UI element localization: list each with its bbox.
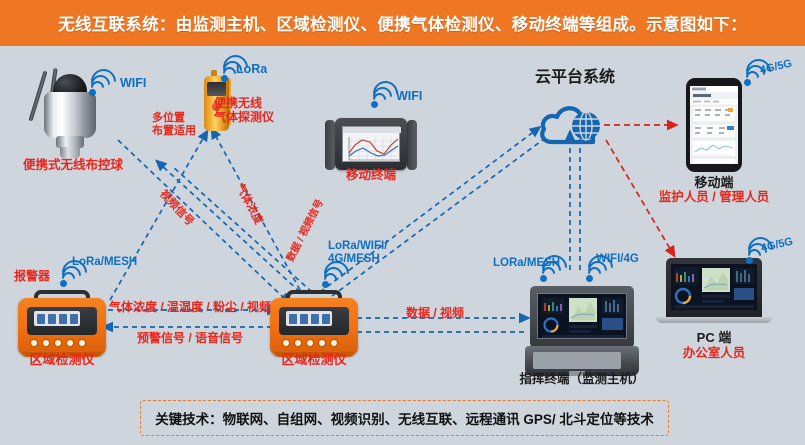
key-tech-text: 关键技术：物联网、自组网、视频识别、无线互联、远程通讯 GPS/ 北斗定位等技术	[155, 408, 654, 428]
link-label-warn-voice: 预警信号 / 语音信号	[137, 331, 243, 346]
wifi-icon	[89, 76, 115, 96]
tablet-grip-left	[325, 120, 335, 170]
display-segment	[289, 314, 297, 324]
cloud-platform-icon[interactable]	[538, 98, 612, 148]
command-terminal-signal-right: WIFI/4G	[596, 252, 639, 266]
mobile-client-sublabel: 监护人员 / 管理人员	[659, 190, 769, 205]
diagram-canvas: 无线互联系统：由监测主机、区域检测仪、便携气体检测仪、移动终端等组成。示意图如下…	[0, 0, 805, 445]
command-screen	[537, 293, 627, 339]
display-segment	[300, 314, 308, 324]
portable-gas-detector-label-line2: 气体探测仪	[214, 110, 274, 125]
link-label-gas-temp-dust-video: 气体浓度 / 温湿度 / 粉尘 / 视频	[109, 300, 271, 315]
key-tech-box: 关键技术：物联网、自组网、视频识别、无线互联、远程通讯 GPS/ 北斗定位等技术	[140, 400, 669, 436]
device-pc-client[interactable]	[656, 258, 772, 326]
area-detector-left-signal-label: LoRa/MESH	[72, 255, 137, 269]
link-label-data-video: 数据 / 视频	[406, 306, 464, 321]
header-bar: 无线互联系统：由监测主机、区域检测仪、便携气体检测仪、移动终端等组成。示意图如下…	[0, 0, 805, 46]
command-terminal-signal-left: LORa/MESH	[493, 256, 560, 270]
link-label-data-video-diagonal: 数据 / 视频信号	[285, 198, 327, 264]
laptop-lid	[666, 258, 762, 318]
mobile-client-label: 移动端	[694, 175, 733, 191]
device-area-detector-mid[interactable]	[270, 290, 358, 356]
ball-camera-signal-label: WIFI	[120, 76, 146, 91]
alarm-device-label: 报警器	[14, 269, 50, 284]
display-segment	[37, 314, 45, 324]
mobile-terminal-label: 移动终端	[346, 168, 396, 183]
portable-gas-detector-note-line2: 布置适用	[152, 125, 196, 138]
button-row[interactable]	[283, 340, 345, 348]
pc-client-sublabel: 办公室人员	[683, 346, 746, 361]
detector-screen	[207, 82, 226, 96]
tablet-chart	[343, 127, 401, 163]
ball-camera-label: 便携式无线布控球	[23, 158, 123, 173]
cloud-platform-label: 云平台系统	[535, 68, 615, 88]
portable-gas-detector-signal-label: LoRa	[236, 62, 267, 77]
command-laptop-lid	[530, 286, 634, 348]
tablet-grip-right	[407, 120, 417, 170]
area-detector-mid-signal-line2: 4G/MESH	[328, 252, 380, 266]
area-detector-left-label: 区域检测仪	[29, 352, 94, 368]
link-label-video-signal: 视频信号	[156, 188, 196, 229]
phone-screen	[690, 86, 738, 164]
page-title: 无线互联系统：由监测主机、区域检测仪、便携气体检测仪、移动终端等组成。示意图如下…	[58, 11, 747, 35]
portable-gas-detector-label-line1: 便携无线	[214, 96, 262, 111]
wifi-icon	[371, 88, 397, 108]
display-segment	[311, 314, 319, 324]
device-area-detector-left[interactable]	[18, 290, 106, 356]
display-segment	[48, 314, 56, 324]
link-label-gas-concentration: 气体浓度	[232, 182, 264, 227]
laptop-base	[656, 317, 772, 323]
lora-mesh-icon	[60, 267, 86, 287]
keyboard[interactable]	[533, 352, 621, 369]
area-detector-mid-signal-line1: LoRa/WIFI/	[328, 239, 387, 253]
tablet-screen	[342, 126, 400, 162]
button-row[interactable]	[31, 340, 93, 348]
display-segment	[322, 314, 330, 324]
display-segment	[70, 314, 78, 324]
device-mobile-client[interactable]	[686, 78, 742, 172]
display-segment	[59, 314, 67, 324]
camera-body	[44, 92, 96, 138]
mobile-terminal-signal-label: WIFI	[396, 89, 422, 104]
portable-gas-detector-note-line1: 多位置	[152, 112, 185, 125]
device-command-terminal[interactable]	[525, 286, 639, 378]
tablet-frame	[335, 118, 407, 170]
pc-screen	[671, 264, 757, 310]
pc-client-label: PC 端	[697, 330, 732, 346]
device-mobile-terminal[interactable]	[325, 118, 417, 174]
lora-wifi-icon	[322, 268, 348, 288]
area-detector-mid-label: 区域检测仪	[281, 352, 346, 368]
camera-base	[60, 147, 80, 158]
command-terminal-label: 指挥终端（监测主机）	[519, 372, 644, 387]
